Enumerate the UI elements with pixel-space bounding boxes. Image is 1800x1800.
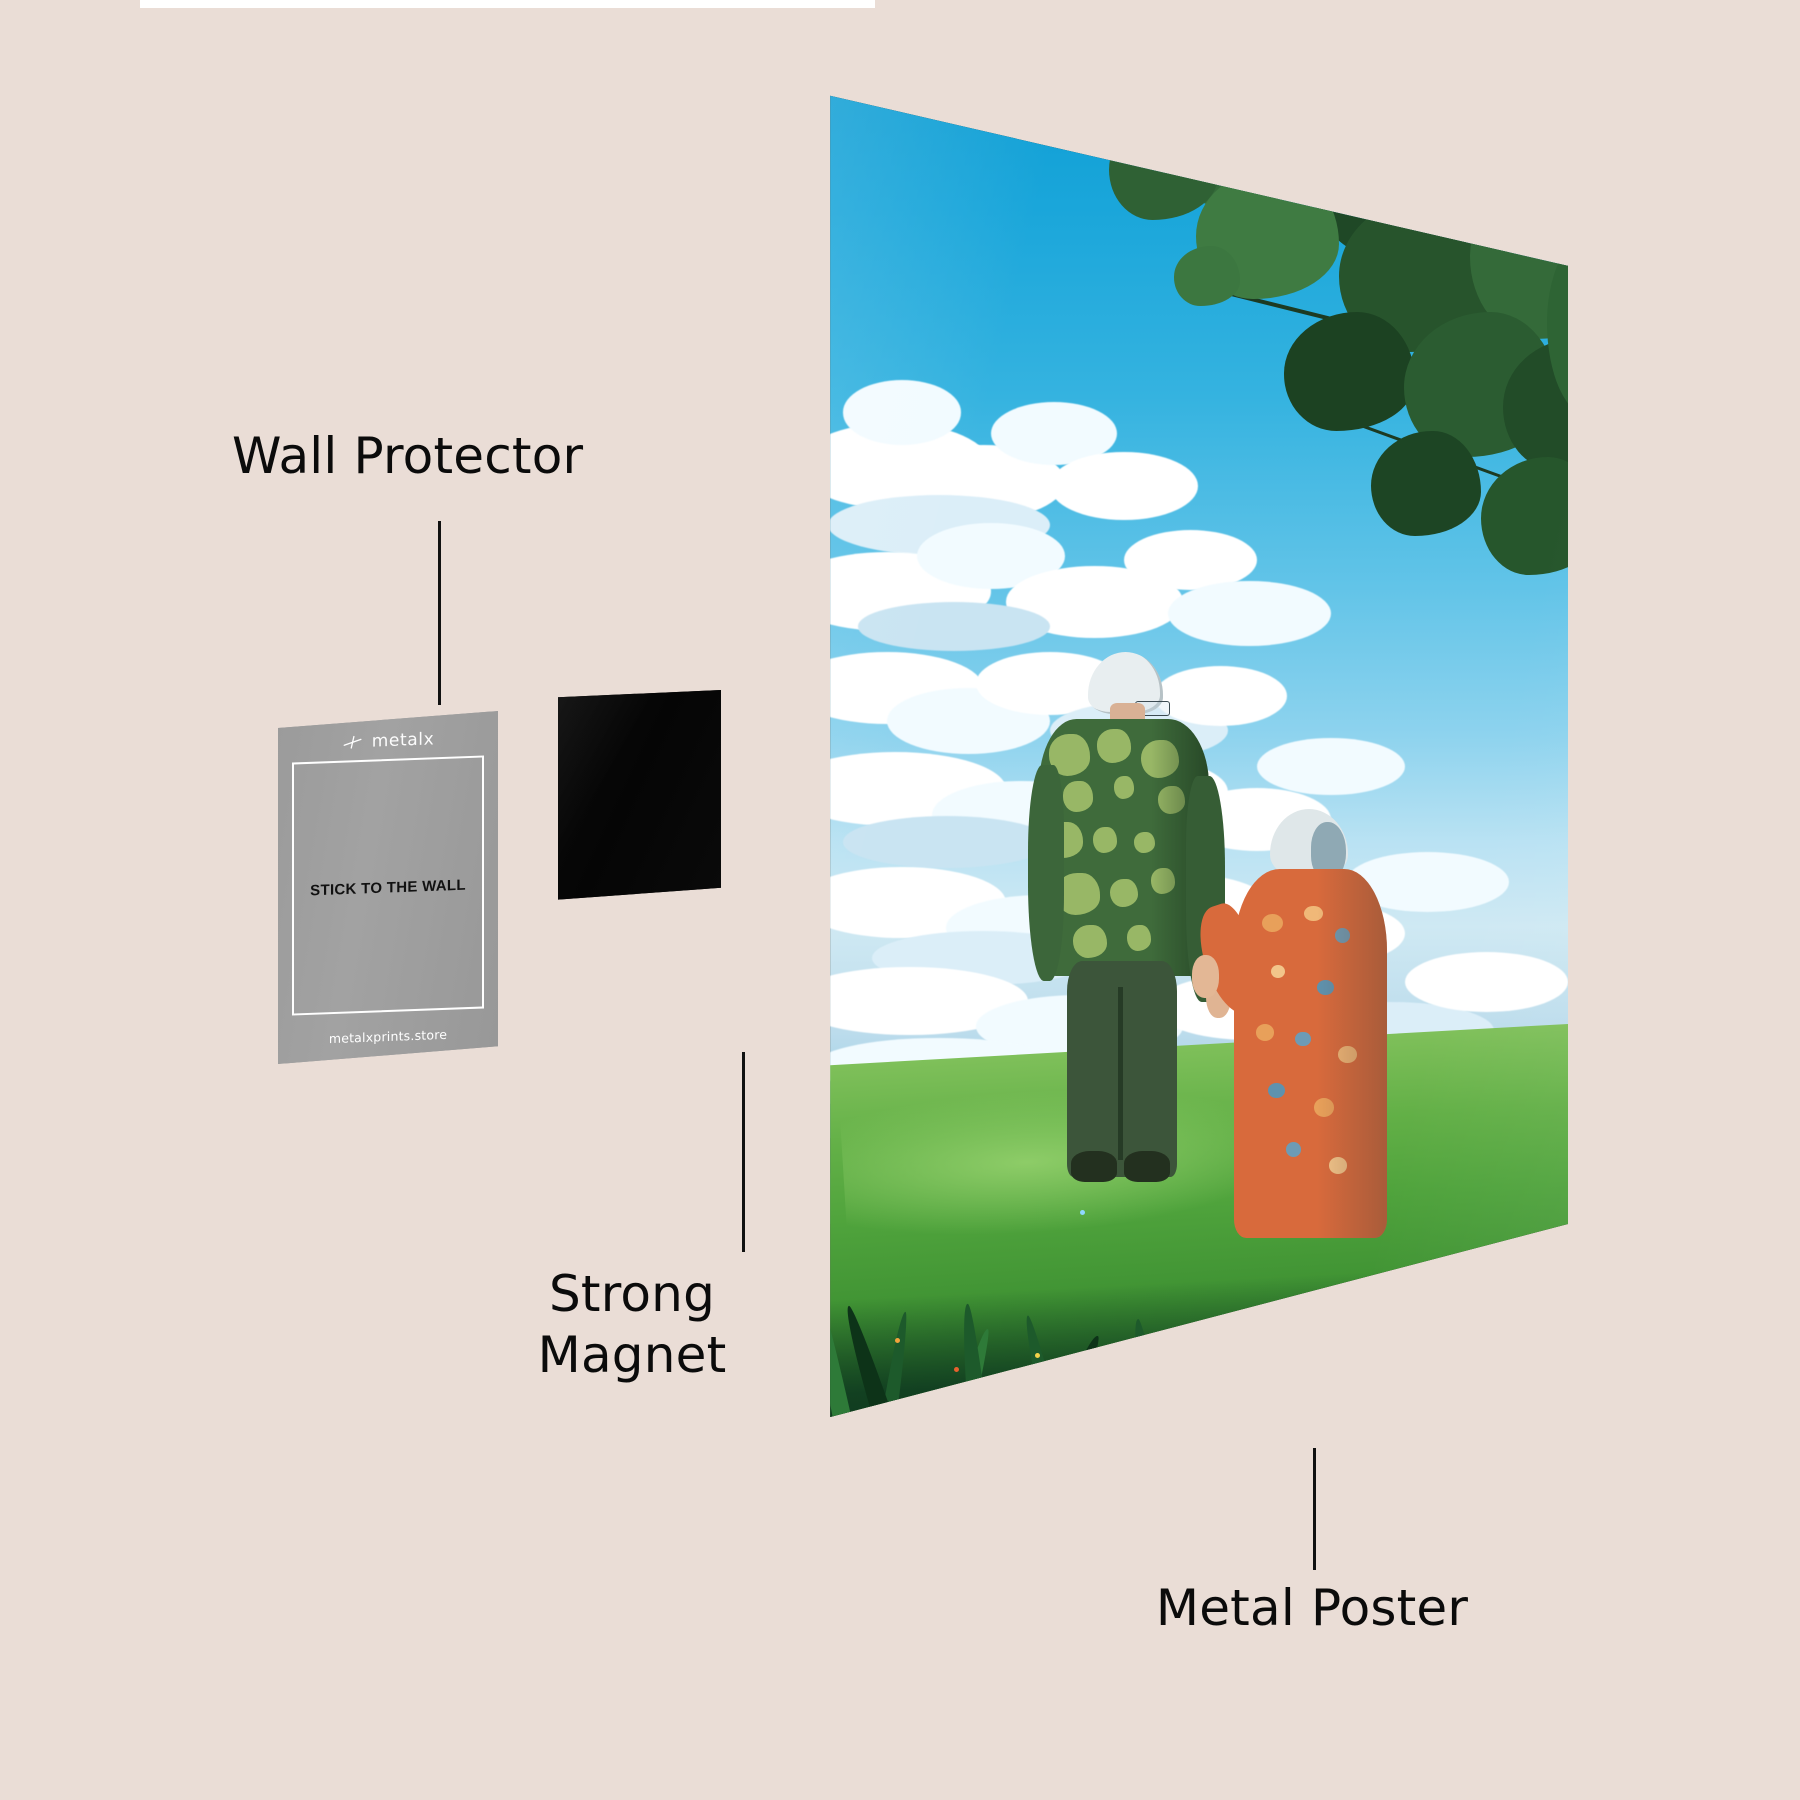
callout-label-wall-protector: Wall Protector [232,428,583,484]
figure-elderly-man [1035,652,1213,1167]
man-trousers [1067,961,1177,1177]
grass-blade [1198,1335,1265,1506]
grass-blade [1509,1330,1568,1510]
magnet-gloss [558,690,721,905]
grass-blade [1431,1310,1479,1497]
woman-hand [1192,955,1220,998]
leader-line-metal-poster [1313,1448,1316,1570]
man-left-arm [1028,765,1064,981]
leaf-cluster [1229,80,1448,154]
strong-magnet-square[interactable] [558,690,721,905]
grass-blade [1405,1340,1454,1497]
callout-label-metal-poster: Metal Poster [1156,1580,1468,1636]
flower [1080,1210,1085,1215]
top-white-band [140,0,875,8]
grass-blade [1109,1339,1152,1497]
store-url: metalxprints.store [278,1025,498,1048]
man-jacket [1039,719,1209,976]
brand-logo: metalx [278,727,498,755]
poster-artwork [828,80,1568,1510]
cloud [1405,952,1568,1012]
flower [1235,1360,1240,1365]
infographic-canvas: metalx STICK TO THE WALL metalxprints.st… [0,0,1800,1800]
grass-blade [1212,1312,1268,1510]
cloud [1050,452,1198,521]
wall-protector-card[interactable]: metalx STICK TO THE WALL metalxprints.st… [278,711,498,1064]
grass-blade [1299,1322,1373,1510]
cloud [843,816,1050,867]
woman-dress [1234,869,1387,1238]
leader-line-wall-protector [438,521,441,705]
man-shoe [1124,1151,1170,1182]
cloud [1168,581,1331,647]
flower [1035,1353,1040,1358]
cloud [858,602,1050,651]
flower [1464,1367,1469,1372]
grass-blade [1125,1317,1176,1504]
flower [954,1367,959,1372]
woman-hair [1270,809,1348,878]
leaf-cluster [1393,115,1464,181]
brand-name: metalx [372,729,435,751]
flower [1131,1381,1136,1386]
flower [1376,1346,1381,1351]
leaf-cluster [1350,80,1568,154]
leaf-cluster [1426,80,1568,246]
callout-label-strong-magnet: Strong Magnet [538,1264,727,1386]
flower [1316,1381,1321,1386]
cross-icon [342,735,364,750]
grass-blade [1302,1338,1345,1510]
cloud [843,380,961,444]
wall-protector-surface: metalx STICK TO THE WALL metalxprints.st… [278,711,498,1064]
top-left-band [0,0,140,10]
man-shoe [1071,1151,1117,1182]
leader-line-strong-magnet [742,1052,745,1252]
foreground-grass [828,1260,1568,1510]
cloud [1257,738,1405,795]
figure-elderly-woman [1228,809,1391,1238]
metal-poster[interactable] [828,80,1568,1510]
